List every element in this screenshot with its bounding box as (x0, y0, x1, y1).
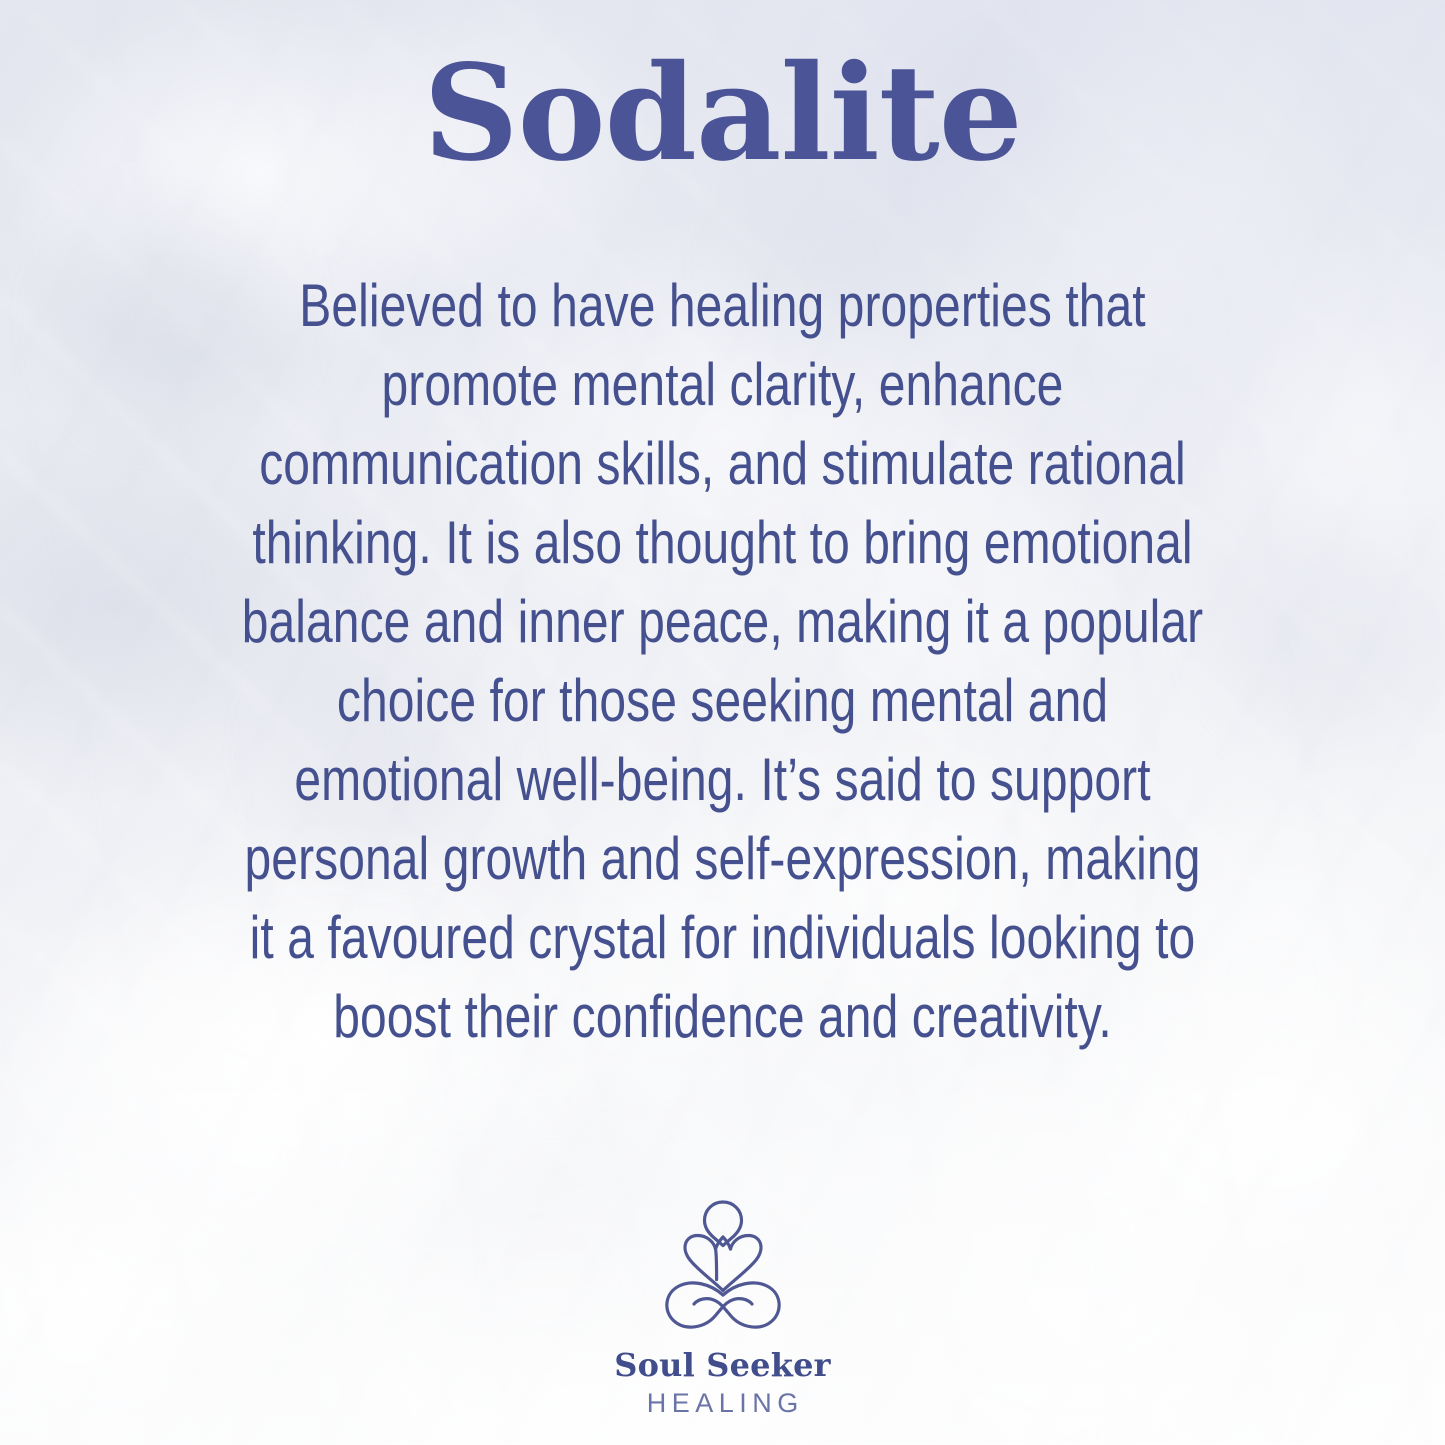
poster-canvas: Sodalite Believed to have healing proper… (0, 0, 1445, 1445)
poster-content: Sodalite Believed to have healing proper… (0, 0, 1445, 1445)
page-title: Sodalite (423, 48, 1021, 180)
description-paragraph: Believed to have healing properties that… (237, 266, 1209, 1056)
